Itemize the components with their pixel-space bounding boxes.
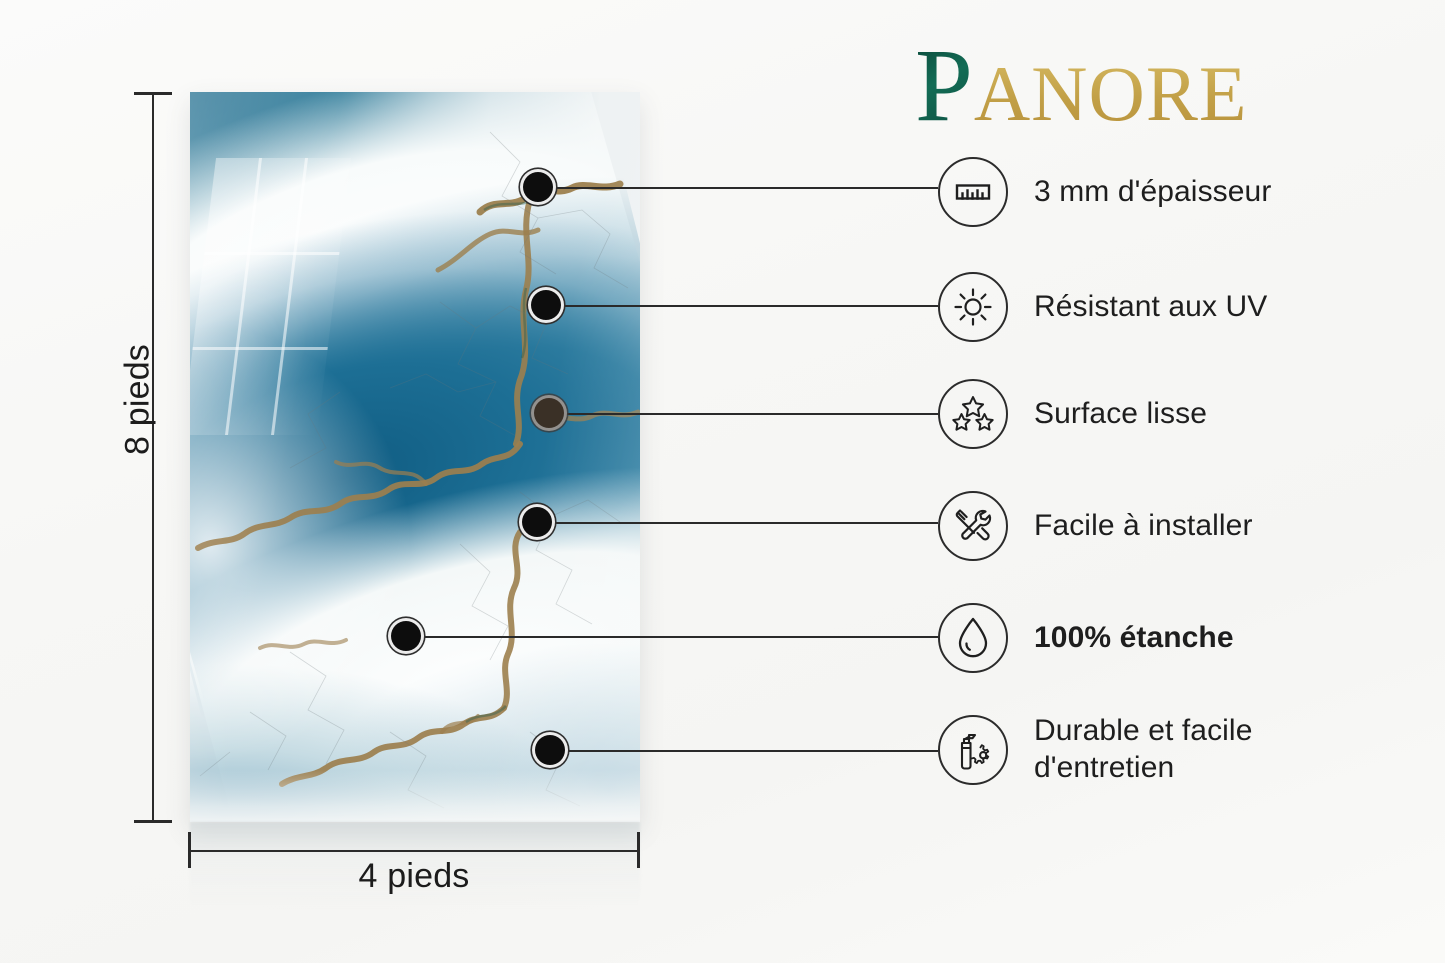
feature-label-2: Résistant aux UV bbox=[1034, 289, 1267, 326]
sun-icon bbox=[938, 272, 1008, 342]
brand-logo: PANORE bbox=[915, 34, 1248, 138]
height-label: 8 pieds bbox=[119, 320, 158, 480]
callout-connector-1 bbox=[553, 187, 938, 189]
callout-dot-4[interactable] bbox=[519, 504, 555, 540]
callout-dot-1[interactable] bbox=[520, 169, 556, 205]
spray-bottle-icon bbox=[938, 715, 1008, 785]
marble-panel-image bbox=[190, 92, 640, 822]
feature-label-5: 100% étanche bbox=[1034, 620, 1234, 657]
feature-label-3: Surface lisse bbox=[1034, 396, 1207, 433]
feature-row-4: Facile à installer bbox=[938, 491, 1253, 561]
feature-row-3: Surface lisse bbox=[938, 379, 1207, 449]
marble-crackle-texture bbox=[190, 92, 640, 822]
callout-connector-4 bbox=[552, 522, 938, 524]
height-dimension-cap-top bbox=[134, 92, 172, 95]
width-label: 4 pieds bbox=[189, 857, 639, 896]
callout-connector-6 bbox=[565, 750, 938, 752]
callout-dot-6[interactable] bbox=[532, 732, 568, 768]
brand-initial: P bbox=[915, 28, 974, 143]
callout-connector-3 bbox=[564, 413, 938, 415]
callout-dot-2[interactable] bbox=[528, 287, 564, 323]
product-infographic: 8 pieds 4 pieds PANORE 3 mm d'épaisseur … bbox=[0, 0, 1445, 963]
water-drop-icon bbox=[938, 603, 1008, 673]
callout-connector-5 bbox=[421, 636, 938, 638]
feature-label-1: 3 mm d'épaisseur bbox=[1034, 174, 1271, 211]
callout-dot-3[interactable] bbox=[531, 395, 567, 431]
feature-row-2: Résistant aux UV bbox=[938, 272, 1267, 342]
tools-icon bbox=[938, 491, 1008, 561]
height-dimension-cap-bottom bbox=[134, 820, 172, 823]
feature-row-5: 100% étanche bbox=[938, 603, 1234, 673]
feature-row-6: Durable et facile d'entretien bbox=[938, 713, 1252, 786]
callout-dot-5[interactable] bbox=[388, 618, 424, 654]
callout-connector-2 bbox=[561, 305, 938, 307]
feature-label-4: Facile à installer bbox=[1034, 508, 1253, 545]
stars-icon bbox=[938, 379, 1008, 449]
product-panel bbox=[190, 92, 640, 822]
width-dimension-line bbox=[189, 850, 639, 852]
feature-label-6: Durable et facile d'entretien bbox=[1034, 713, 1252, 786]
brand-rest: ANORE bbox=[974, 50, 1248, 137]
feature-row-1: 3 mm d'épaisseur bbox=[938, 157, 1271, 227]
ruler-icon bbox=[938, 157, 1008, 227]
